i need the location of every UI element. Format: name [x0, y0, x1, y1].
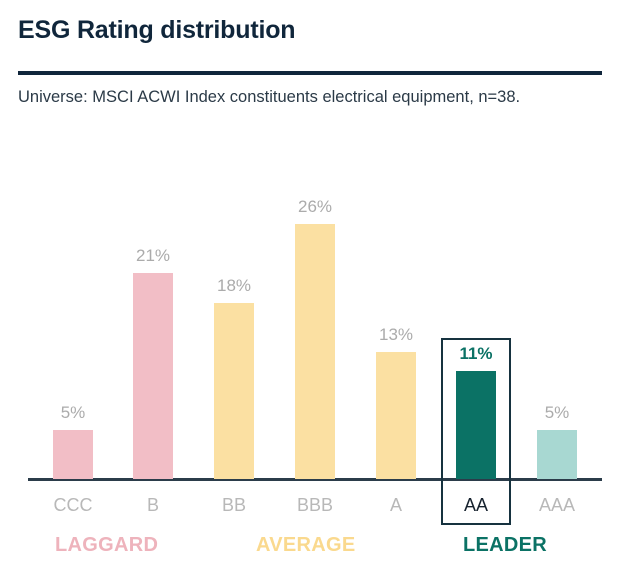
bar-value-aaa: 5% [545, 403, 570, 423]
bar-value-bb: 18% [217, 276, 251, 296]
category-label-aaa: AAA [539, 495, 575, 516]
bar-group-a: 13%A [356, 0, 436, 583]
chart-page: ESG Rating distribution Universe: MSCI A… [0, 0, 620, 583]
category-label-a: A [390, 495, 402, 516]
bar-group-aaa: 5%AAA [517, 0, 597, 583]
bar-group-bbb: 26%BBB [275, 0, 355, 583]
bar-group-b: 21%B [113, 0, 193, 583]
group-label-laggard: LAGGARD [55, 534, 158, 557]
bar-bb[interactable] [214, 303, 254, 479]
bar-a[interactable] [376, 352, 416, 479]
bar-value-bbb: 26% [298, 197, 332, 217]
bar-value-a: 13% [379, 325, 413, 345]
bar-group-bb: 18%BB [194, 0, 274, 583]
bar-group-ccc: 5%CCC [33, 0, 113, 583]
bar-b[interactable] [133, 273, 173, 479]
bar-value-b: 21% [136, 246, 170, 266]
bar-bbb[interactable] [295, 224, 335, 479]
category-label-bb: BB [222, 495, 246, 516]
bar-aaa[interactable] [537, 430, 577, 479]
highlight-box-aa [441, 338, 511, 525]
bar-chart-plot: 5%CCC21%B18%BB26%BBB13%A11%AA5%AAALAGGAR… [0, 0, 620, 583]
group-label-leader: LEADER [463, 534, 547, 557]
category-label-bbb: BBB [297, 495, 333, 516]
bar-ccc[interactable] [53, 430, 93, 479]
bar-value-ccc: 5% [61, 403, 86, 423]
group-label-average: AVERAGE [256, 534, 356, 557]
category-label-ccc: CCC [54, 495, 93, 516]
category-label-b: B [147, 495, 159, 516]
